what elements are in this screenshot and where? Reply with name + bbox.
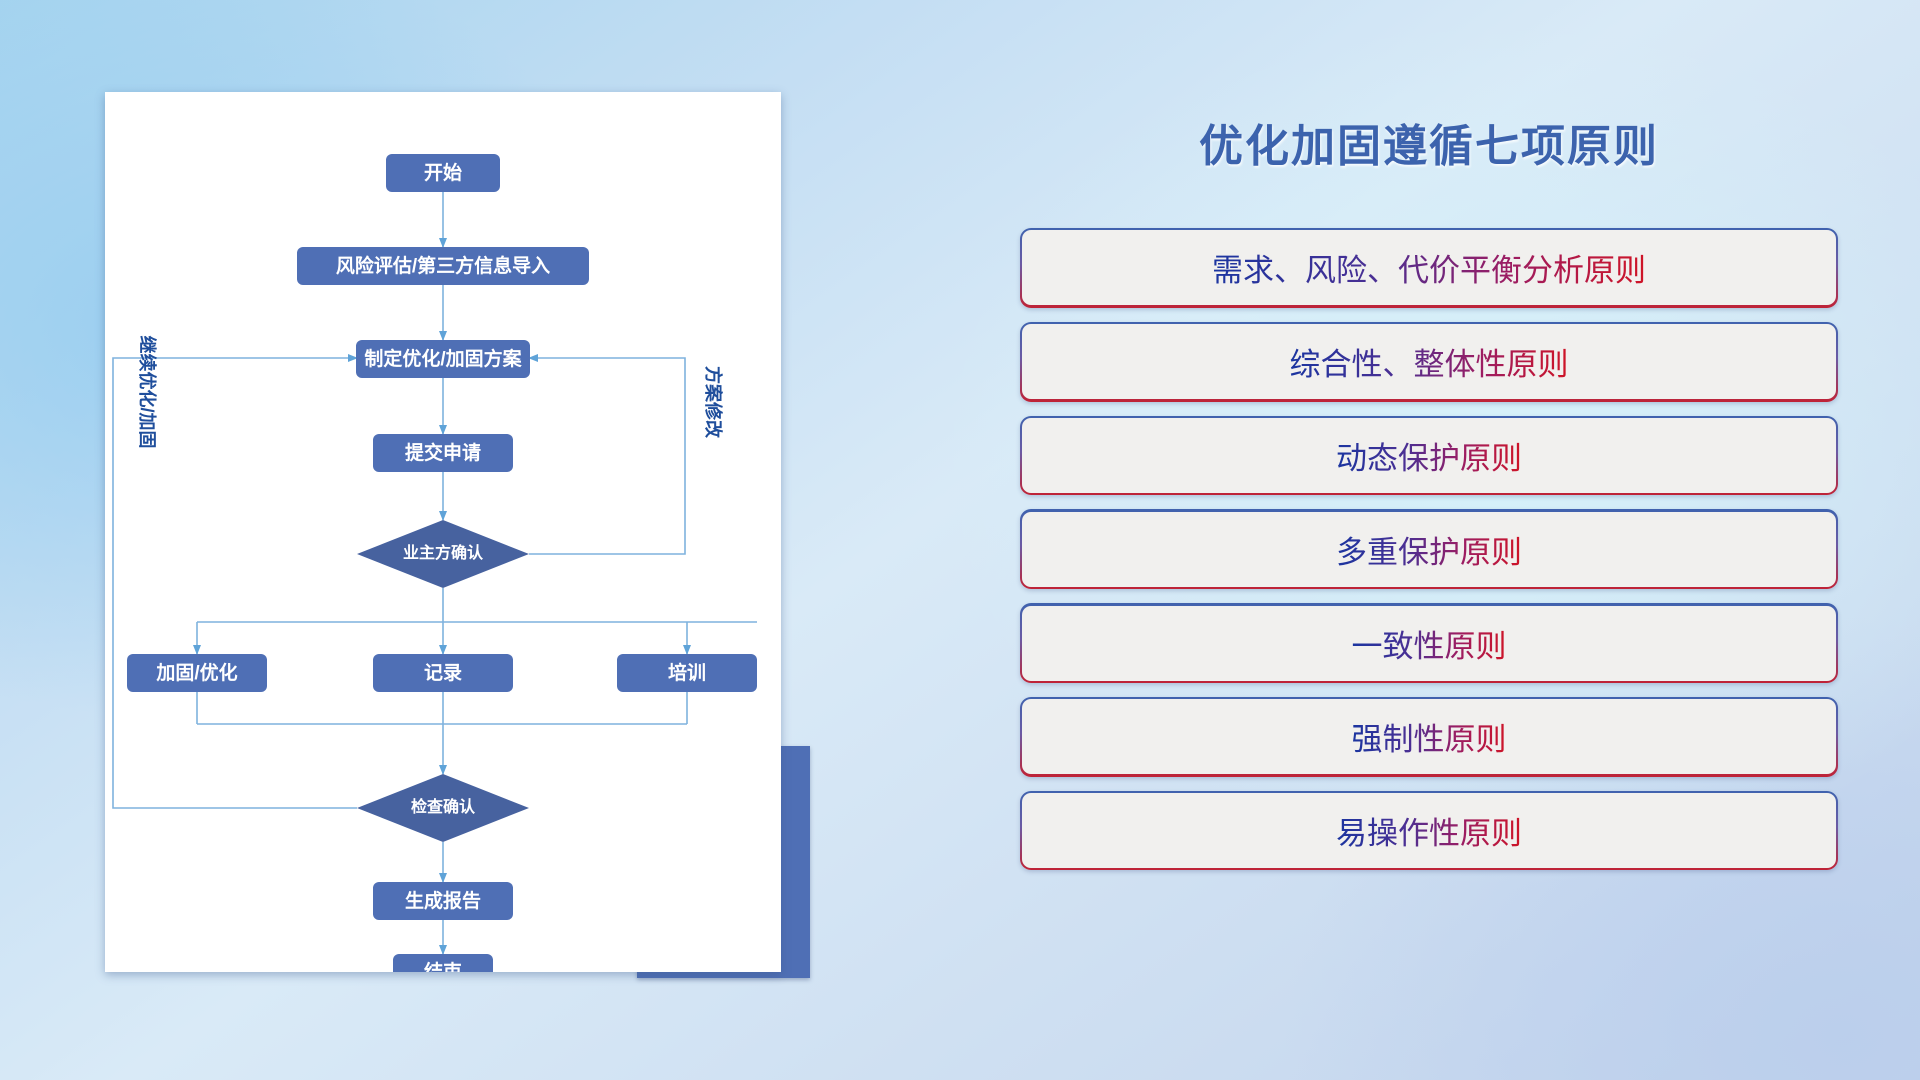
principle-item[interactable]: 易操作性原则: [1020, 791, 1838, 871]
flow-node-record[interactable]: 记录: [373, 654, 513, 692]
flow-node-reinforce[interactable]: 加固/优化: [127, 654, 267, 692]
flow-node-check-label: 检查确认: [411, 797, 476, 816]
flow-node-report-label: 生成报告: [405, 889, 481, 912]
principle-label: 一致性原则: [1352, 621, 1507, 666]
flow-node-submit[interactable]: 提交申请: [373, 434, 513, 472]
principle-item[interactable]: 综合性、整体性原则: [1020, 322, 1838, 402]
flow-node-risk-label: 风险评估/第三方信息导入: [336, 254, 550, 277]
principles-panel: 优化加固遵循七项原则 需求、风险、代价平衡分析原则 综合性、整体性原则 动态保护…: [1020, 96, 1838, 1006]
flowchart-diagram: 开始 风险评估/第三方信息导入 制定优化/加固方案 提交申请 业主方确认 加固/: [105, 92, 781, 972]
principle-card: 多重保护原则: [1022, 512, 1835, 587]
flow-node-end-label: 结束: [424, 960, 463, 972]
flow-node-owner-confirm[interactable]: 业主方确认: [357, 520, 529, 588]
flow-node-end[interactable]: 结束: [393, 954, 493, 972]
edge-label-continue-optimize: 继续优化/加固: [137, 335, 158, 448]
principle-card: 动态保护原则: [1022, 418, 1835, 493]
principle-card: 强制性原则: [1022, 699, 1835, 774]
flow-node-reinforce-label: 加固/优化: [155, 661, 237, 684]
flow-node-training-label: 培训: [668, 661, 706, 684]
flow-node-plan[interactable]: 制定优化/加固方案: [356, 340, 530, 378]
principle-label: 需求、风险、代价平衡分析原则: [1212, 245, 1646, 290]
flow-node-start[interactable]: 开始: [386, 154, 500, 192]
principle-label: 动态保护原则: [1336, 433, 1522, 478]
flow-node-record-label: 记录: [424, 662, 462, 684]
flow-node-submit-label: 提交申请: [405, 441, 481, 464]
principle-label: 强制性原则: [1352, 714, 1507, 759]
flow-node-risk[interactable]: 风险评估/第三方信息导入: [297, 247, 589, 285]
flow-node-check[interactable]: 检查确认: [357, 774, 529, 842]
flow-node-owner-confirm-label: 业主方确认: [403, 543, 484, 562]
flow-node-start-label: 开始: [424, 161, 462, 184]
slide-canvas: 开始 风险评估/第三方信息导入 制定优化/加固方案 提交申请 业主方确认 加固/: [0, 0, 1920, 1080]
flowchart-card: 开始 风险评估/第三方信息导入 制定优化/加固方案 提交申请 业主方确认 加固/: [105, 92, 781, 972]
principle-item[interactable]: 多重保护原则: [1020, 509, 1838, 589]
principle-card: 易操作性原则: [1022, 793, 1835, 868]
principle-label: 多重保护原则: [1336, 527, 1522, 572]
flow-node-training[interactable]: 培训: [617, 654, 757, 692]
flow-node-report[interactable]: 生成报告: [373, 882, 513, 920]
principle-label: 易操作性原则: [1336, 808, 1522, 853]
principle-item[interactable]: 动态保护原则: [1020, 416, 1838, 496]
principle-item[interactable]: 一致性原则: [1020, 603, 1838, 683]
principle-card: 综合性、整体性原则: [1022, 324, 1835, 399]
edge-label-plan-revise: 方案修改: [703, 366, 724, 439]
principle-card: 一致性原则: [1022, 606, 1835, 681]
principle-item[interactable]: 需求、风险、代价平衡分析原则: [1020, 228, 1838, 308]
principle-label: 综合性、整体性原则: [1290, 339, 1569, 384]
principles-list: 需求、风险、代价平衡分析原则 综合性、整体性原则 动态保护原则 多重保护原则: [1020, 228, 1838, 884]
page-title: 优化加固遵循七项原则: [1020, 110, 1838, 174]
flow-node-plan-label: 制定优化/加固方案: [364, 347, 522, 370]
principle-item[interactable]: 强制性原则: [1020, 697, 1838, 777]
principle-card: 需求、风险、代价平衡分析原则: [1022, 230, 1835, 305]
